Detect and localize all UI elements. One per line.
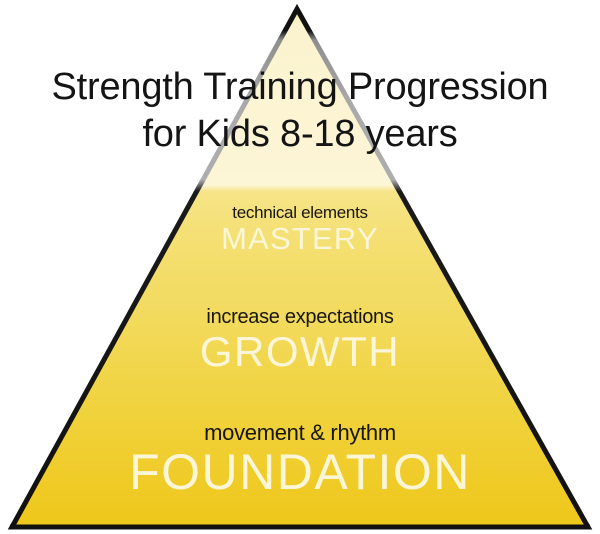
pyramid-tier-mastery: technical elements MASTERY — [0, 203, 600, 255]
tier-growth-label: GROWTH — [0, 329, 600, 374]
pyramid-tier-foundation: movement & rhythm FOUNDATION — [0, 420, 600, 499]
infographic-canvas: Strength Training Progression for Kids 8… — [0, 0, 600, 534]
tier-foundation-subtitle: movement & rhythm — [0, 420, 600, 445]
pyramid-tier-growth: increase expectations GROWTH — [0, 306, 600, 374]
tier-mastery-subtitle: technical elements — [0, 203, 600, 222]
tier-foundation-label: FOUNDATION — [0, 445, 600, 499]
tier-mastery-label: MASTERY — [0, 222, 600, 255]
tier-growth-subtitle: increase expectations — [0, 306, 600, 329]
